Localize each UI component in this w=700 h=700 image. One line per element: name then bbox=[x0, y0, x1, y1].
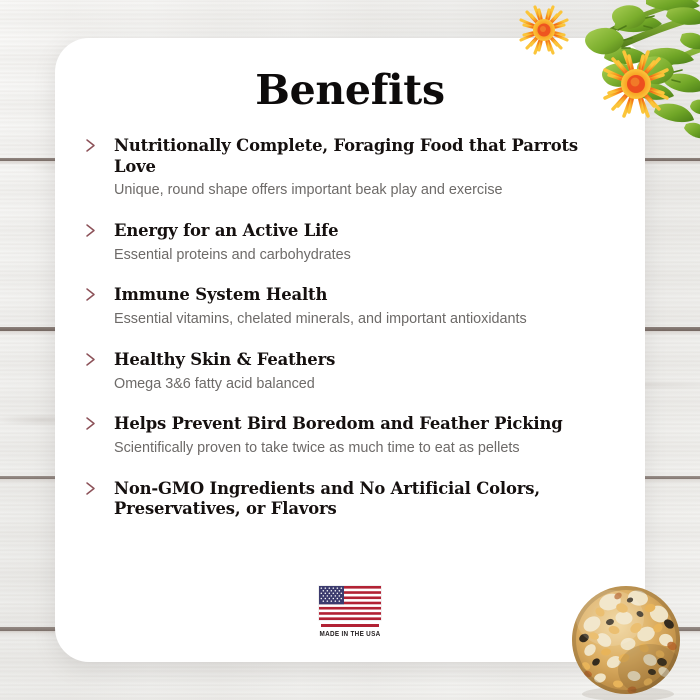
badge-divider bbox=[321, 624, 379, 627]
page-title: Benefits bbox=[55, 66, 645, 114]
us-flag-icon bbox=[319, 586, 381, 620]
chevron-right-icon bbox=[84, 138, 98, 153]
chevron-right-icon bbox=[84, 223, 98, 238]
list-item: Non-GMO Ingredients and No Artificial Co… bbox=[82, 479, 621, 520]
benefit-subtitle: Scientifically proven to take twice as m… bbox=[114, 439, 621, 458]
made-in-usa-label: MADE IN THE USA bbox=[318, 629, 382, 638]
chevron-right-icon bbox=[84, 352, 98, 367]
benefit-title: Healthy Skin & Feathers bbox=[114, 350, 621, 371]
list-item: Immune System Health Essential vitamins,… bbox=[82, 285, 621, 328]
made-in-usa-badge: MADE IN THE USA bbox=[313, 586, 387, 638]
list-item: Energy for an Active Life Essential prot… bbox=[82, 221, 621, 264]
chevron-right-icon bbox=[84, 416, 98, 431]
chevron-right-icon bbox=[84, 287, 98, 302]
benefit-subtitle: Omega 3&6 fatty acid balanced bbox=[114, 375, 621, 394]
benefits-list: Nutritionally Complete, Foraging Food th… bbox=[82, 136, 621, 524]
benefit-title: Non-GMO Ingredients and No Artificial Co… bbox=[114, 479, 554, 520]
list-item: Helps Prevent Bird Boredom and Feather P… bbox=[82, 414, 621, 457]
product-benefits-infographic: Benefits Nutritionally Complete, Foragin… bbox=[0, 0, 700, 700]
benefit-subtitle: Essential vitamins, chelated minerals, a… bbox=[114, 310, 621, 329]
list-item: Healthy Skin & Feathers Omega 3&6 fatty … bbox=[82, 350, 621, 393]
benefit-title: Energy for an Active Life bbox=[114, 221, 621, 242]
benefit-title: Immune System Health bbox=[114, 285, 621, 306]
list-item: Nutritionally Complete, Foraging Food th… bbox=[82, 136, 621, 200]
benefit-subtitle: Essential proteins and carbohydrates bbox=[114, 246, 621, 265]
benefits-card: Benefits Nutritionally Complete, Foragin… bbox=[55, 38, 645, 662]
chevron-right-icon bbox=[84, 481, 98, 496]
benefit-subtitle: Unique, round shape offers important bea… bbox=[114, 181, 621, 200]
benefit-title: Nutritionally Complete, Foraging Food th… bbox=[114, 136, 621, 177]
benefit-title: Helps Prevent Bird Boredom and Feather P… bbox=[114, 414, 621, 435]
